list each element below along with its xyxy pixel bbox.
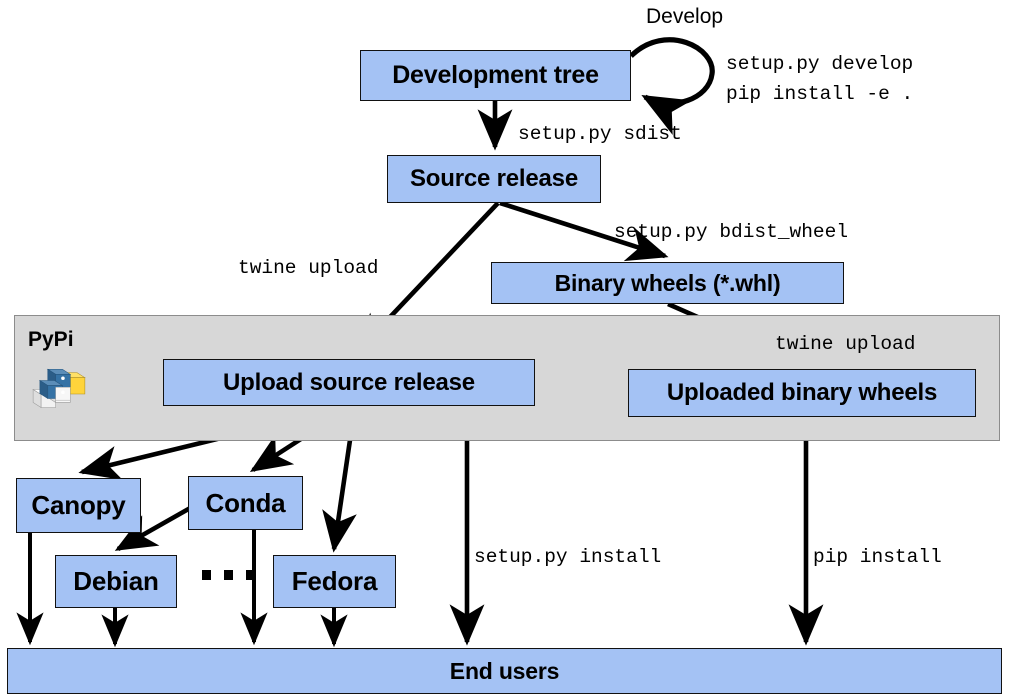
diagram-canvas: PyPi — [0, 0, 1009, 698]
edge-label-pip-install: pip install — [813, 545, 942, 570]
pypi-logo-icon — [30, 358, 88, 412]
edge-label-setup-py-sdist: setup.py sdist — [518, 122, 682, 147]
edge-label-develop: Develop — [646, 4, 723, 29]
more-distros-ellipsis — [202, 570, 255, 580]
node-upload-source-release[interactable]: Upload source release — [163, 359, 535, 406]
node-canopy[interactable]: Canopy — [16, 478, 141, 533]
node-development-tree[interactable]: Development tree — [360, 50, 631, 101]
edge-label-setup-py-bdist-wheel: setup.py bdist_wheel — [614, 220, 848, 245]
edge-label-twine-upload-wheels: twine upload — [775, 332, 915, 357]
node-fedora[interactable]: Fedora — [273, 555, 396, 608]
edge-label-pip-install-editable: pip install -e . — [726, 82, 913, 107]
ellipsis-dot — [202, 570, 211, 580]
node-conda[interactable]: Conda — [188, 476, 303, 530]
edge-label-setup-py-install: setup.py install — [474, 545, 661, 570]
edge-label-setup-py-develop: setup.py develop — [726, 52, 913, 77]
node-end-users[interactable]: End users — [7, 648, 1002, 694]
node-debian[interactable]: Debian — [55, 555, 177, 608]
node-source-release[interactable]: Source release — [387, 155, 601, 203]
edge-label-twine-upload-source: twine upload — [238, 256, 378, 281]
ellipsis-dot — [246, 570, 255, 580]
node-uploaded-binary-wheels[interactable]: Uploaded binary wheels — [628, 369, 976, 417]
node-binary-wheels[interactable]: Binary wheels (*.whl) — [491, 262, 844, 304]
ellipsis-dot — [224, 570, 233, 580]
pypi-panel-title: PyPi — [28, 328, 74, 352]
edge-develop-self-loop — [631, 40, 712, 104]
